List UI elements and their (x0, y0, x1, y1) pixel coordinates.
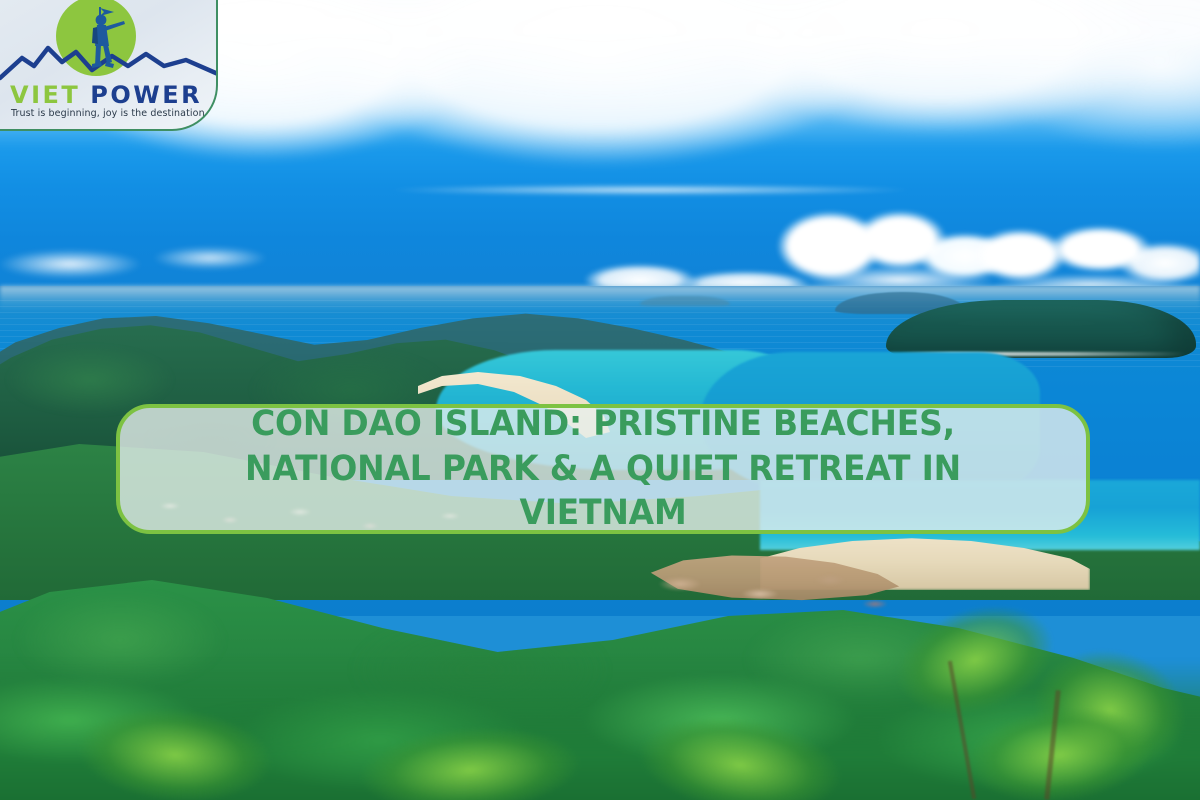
palm-frond (56, 690, 295, 800)
hero-image: VIET POWER Trust is beginning, joy is th… (0, 0, 1200, 800)
logo-wordmark: VIET POWER (10, 82, 210, 108)
roadside-buildings (620, 560, 920, 630)
brand-name-viet: VIET (10, 81, 80, 109)
logo-tagline: Trust is beginning, joy is the destinati… (11, 108, 211, 119)
title-banner: CON DAO ISLAND: PRISTINE BEACHES, NATION… (116, 404, 1090, 534)
distant-islet (640, 296, 730, 306)
page-title: CON DAO ISLAND: PRISTINE BEACHES, NATION… (173, 402, 1032, 536)
cloud-streak (300, 180, 1000, 200)
main-offshore-island (886, 300, 1196, 358)
hiker-with-flag-on-mountain-icon (0, 0, 218, 84)
brand-name-power: POWER (90, 81, 202, 109)
logo-badge[interactable]: VIET POWER Trust is beginning, joy is th… (0, 0, 218, 131)
cloud-left (0, 230, 320, 290)
